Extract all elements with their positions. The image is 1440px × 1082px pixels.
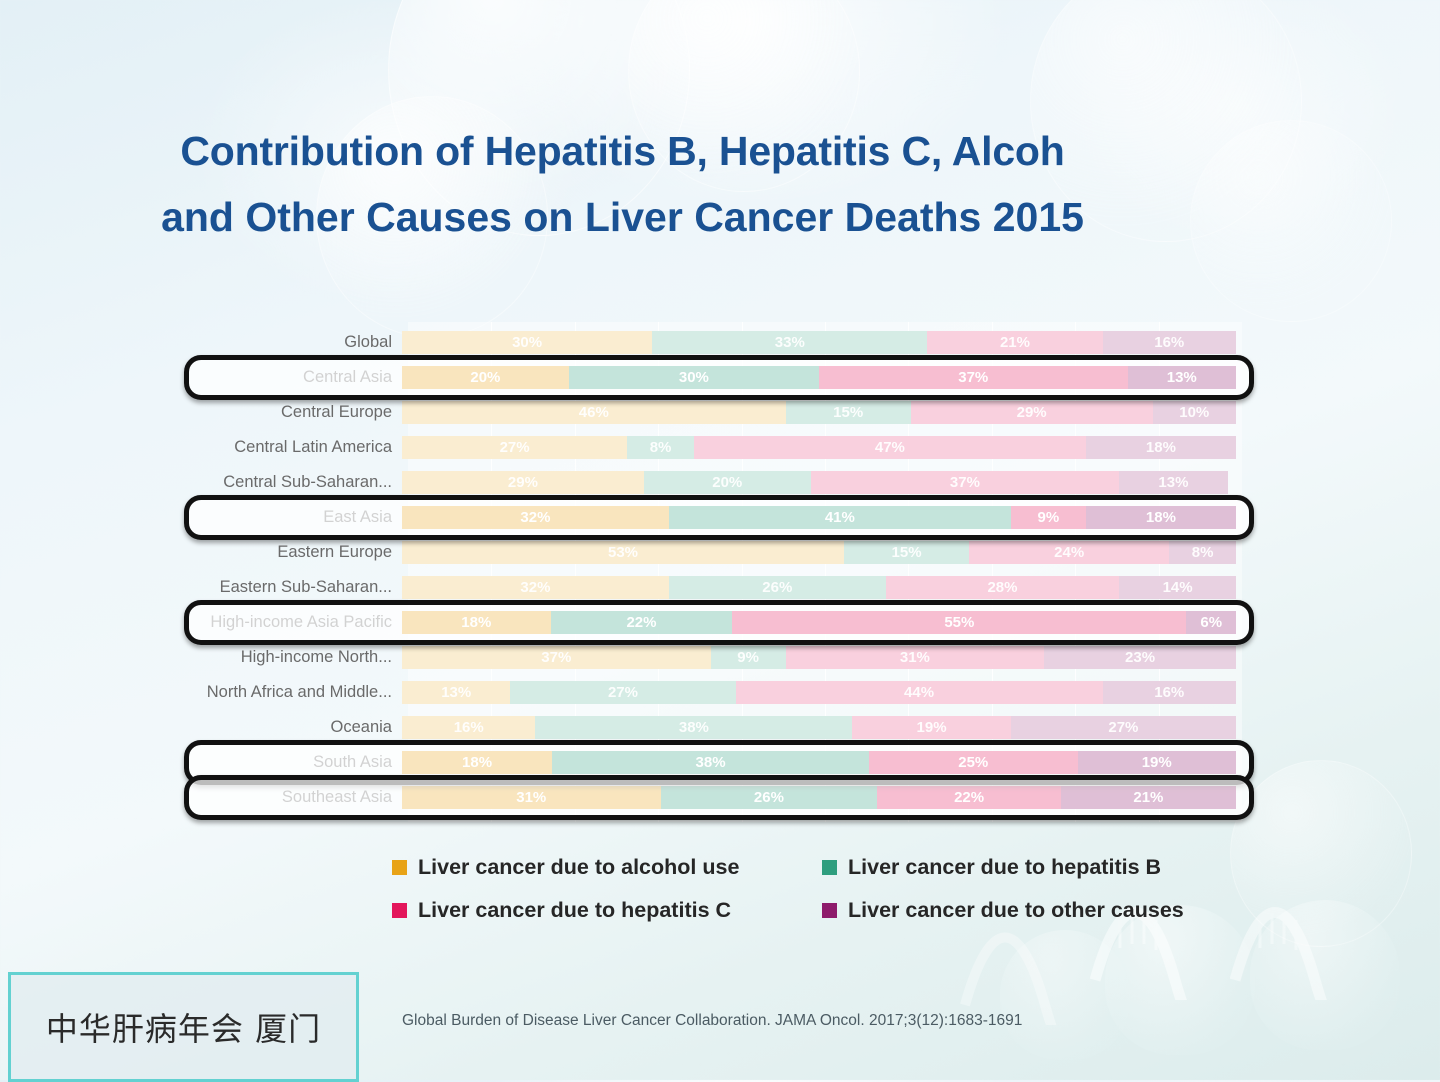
row-label: Global [180,333,402,352]
bar-segment: 19% [852,716,1010,739]
legend-item: Liver cancer due to hepatitis B [822,855,1242,880]
bar-segment: 10% [1153,401,1236,424]
blob-shape [1000,930,1130,1060]
row-label: North Africa and Middle... [180,683,402,702]
legend-swatch-icon [392,903,407,918]
bar-segment: 13% [402,681,510,704]
bar-segment: 27% [402,436,627,459]
legend-swatch-icon [822,860,837,875]
bar-segment: 31% [786,646,1045,669]
stacked-bar: 29%20%37%13% [402,471,1236,494]
bar-segment: 37% [402,646,711,669]
bar-segment: 37% [811,471,1120,494]
stacked-bar: 37%9%31%23% [402,646,1236,669]
title-line-1: Contribution of Hepatitis B, Hepatitis C… [180,128,1064,174]
bar-segment: 32% [402,576,669,599]
legend-swatch-icon [822,903,837,918]
row-highlight-outline [184,600,1254,645]
legend-item: Liver cancer due to hepatitis C [392,898,822,923]
title-line-2: and Other Causes on Liver Cancer Deaths … [161,194,1084,240]
stacked-bar: 30%33%21%16% [402,331,1236,354]
chart-row: Central Latin America27%8%47%18% [180,430,1260,465]
row-label: Central Latin America [180,438,402,457]
citation-text: Global Burden of Disease Liver Cancer Co… [402,1008,1192,1034]
dna-helix-icon [960,905,1110,1025]
conference-logo-box: 中华肝病年会 厦门 [8,972,359,1082]
bar-segment: 29% [402,471,644,494]
stacked-bar: 27%8%47%18% [402,436,1236,459]
bar-segment: 18% [1086,436,1236,459]
stacked-bar: 13%27%44%16% [402,681,1236,704]
bar-segment: 8% [1169,541,1236,564]
bar-segment: 53% [402,541,844,564]
legend-label: Liver cancer due to other causes [848,898,1184,923]
bar-segment: 23% [1044,646,1236,669]
bar-segment: 24% [969,541,1169,564]
legend-label: Liver cancer due to hepatitis B [848,855,1161,880]
row-label: Eastern Europe [180,543,402,562]
bar-segment: 14% [1119,576,1236,599]
stacked-bar: 53%15%24%8% [402,541,1236,564]
stacked-bar: 32%26%28%14% [402,576,1236,599]
bar-segment: 9% [711,646,786,669]
bar-segment: 38% [535,716,852,739]
dna-helix-icon [1230,880,1380,1000]
page-title: Contribution of Hepatitis B, Hepatitis C… [0,118,1245,250]
bar-segment: 30% [402,331,652,354]
row-label: Central Europe [180,403,402,422]
row-label: Eastern Sub-Saharan... [180,578,402,597]
bar-segment: 29% [911,401,1153,424]
chart-row: Central Europe46%15%29%10% [180,395,1260,430]
legend-label: Liver cancer due to alcohol use [418,855,739,880]
stacked-bar: 46%15%29%10% [402,401,1236,424]
stacked-bar-chart: Global30%33%21%16%Central Asia20%30%37%1… [180,322,1260,822]
bar-segment: 20% [644,471,811,494]
chart-row: High-income North...37%9%31%23% [180,640,1260,675]
bar-segment: 46% [402,401,786,424]
bar-segment: 8% [627,436,694,459]
row-highlight-outline [184,355,1254,400]
bar-segment: 15% [786,401,911,424]
bar-segment: 16% [1103,681,1236,704]
bar-segment: 27% [510,681,735,704]
bar-segment: 28% [886,576,1120,599]
row-highlight-outline [184,495,1254,540]
bar-segment: 16% [402,716,535,739]
chart-legend: Liver cancer due to alcohol useLiver can… [392,855,1242,923]
legend-item: Liver cancer due to other causes [822,898,1242,923]
bar-segment: 21% [927,331,1102,354]
row-label: High-income North... [180,648,402,667]
row-label: Central Sub-Saharan... [180,473,402,492]
legend-item: Liver cancer due to alcohol use [392,855,822,880]
bar-segment: 33% [652,331,927,354]
row-label: Oceania [180,718,402,737]
conference-logo-text: 中华肝病年会 厦门 [46,1004,321,1050]
bar-segment: 47% [694,436,1086,459]
blob-shape [1250,900,1400,1050]
bar-segment: 13% [1119,471,1227,494]
bar-segment: 15% [844,541,969,564]
bar-segment: 16% [1103,331,1236,354]
bar-segment: 26% [669,576,886,599]
stacked-bar: 16%38%19%27% [402,716,1236,739]
legend-label: Liver cancer due to hepatitis C [418,898,731,923]
legend-swatch-icon [392,860,407,875]
bar-segment: 27% [1011,716,1236,739]
bar-segment: 44% [736,681,1103,704]
chart-row: Eastern Europe53%15%24%8% [180,535,1260,570]
row-highlight-outline [184,775,1254,820]
chart-row: North Africa and Middle...13%27%44%16% [180,675,1260,710]
